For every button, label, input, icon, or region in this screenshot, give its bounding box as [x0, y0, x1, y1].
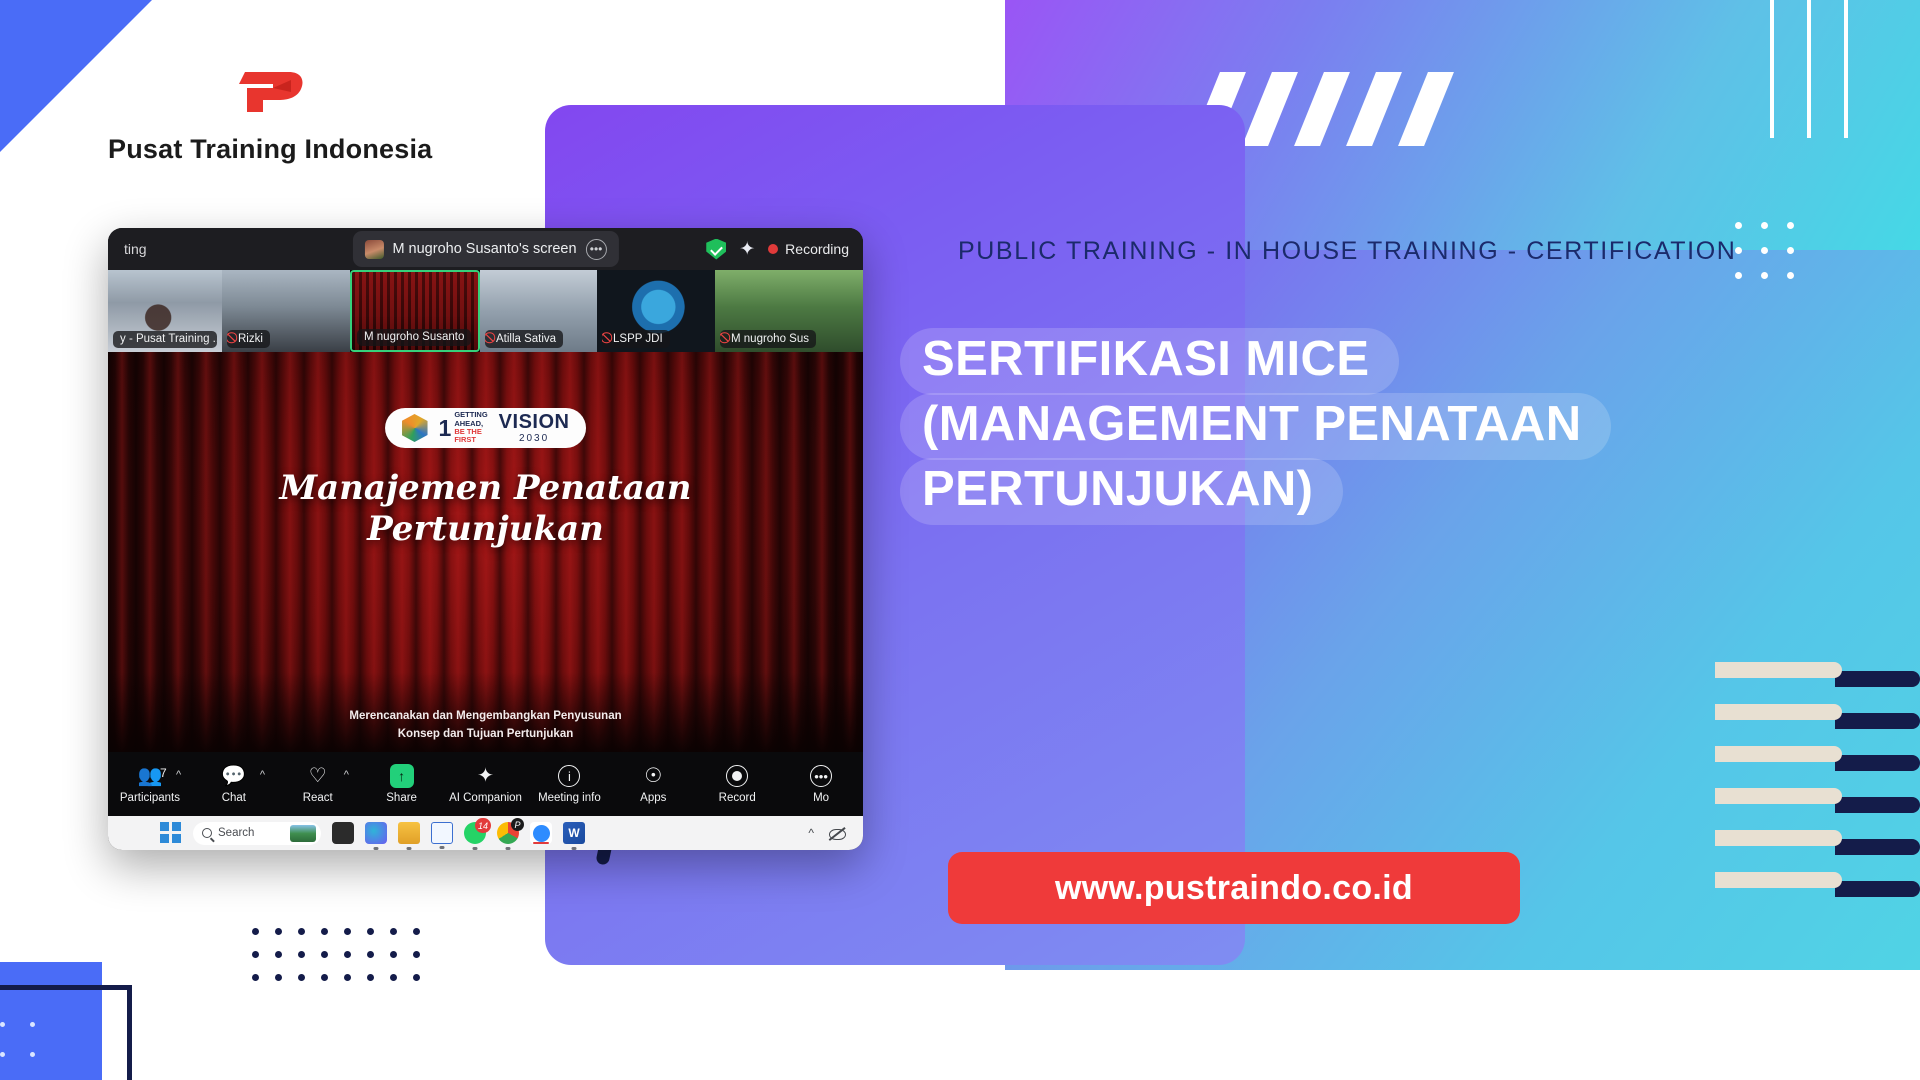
taskbar-tray: ^: [808, 826, 863, 840]
bar-stack-decoration: [1715, 662, 1920, 912]
participant-name: M nugroho Susanto: [357, 329, 471, 346]
toolbar-share-button[interactable]: ↑ Share: [360, 764, 444, 804]
more-icon-wrap: •••: [810, 764, 832, 788]
info-circle-icon-wrap: i: [558, 764, 580, 788]
record-icon: [726, 765, 748, 787]
slide-subtitle: Merencanakan dan Mengembangkan Penyusuna…: [108, 708, 863, 744]
participant-name: y - Pusat Training ...: [113, 331, 217, 348]
toolbar-apps-button[interactable]: ☉ Apps: [611, 764, 695, 804]
participant-name-text: M nugroho Sus: [731, 333, 809, 345]
ellipsis-icon[interactable]: •••: [586, 239, 607, 260]
taskbar-items: Search 14 P: [108, 822, 585, 845]
chevron-up-icon[interactable]: ^: [808, 826, 814, 840]
share-screen-icon: ↑: [390, 764, 414, 788]
pti-p-logo-icon: [229, 62, 307, 120]
participant-avatar-icon: [364, 240, 383, 259]
toolbar-label: Mo: [813, 792, 829, 804]
whatsapp-icon[interactable]: 14: [464, 822, 486, 844]
share-screen-icon-wrap: ↑: [390, 764, 414, 788]
participant-name: ⃠ Atilla Sativa: [485, 330, 563, 348]
whatsapp-badge: 14: [475, 818, 491, 833]
zoom-topbar-status: ✦ Recording: [706, 228, 849, 270]
heart-icon: ♡: [309, 764, 327, 788]
toolbar-meeting-info-button[interactable]: i Meeting info: [527, 764, 611, 804]
participant-tile[interactable]: ⃠ Rizki: [222, 270, 350, 352]
slide-subtitle-line1: Merencanakan dan Mengembangkan Penyusuna…: [108, 708, 863, 726]
search-input[interactable]: Search: [193, 822, 321, 845]
toolbar-chat-button[interactable]: 💬 ^ Chat: [192, 764, 276, 804]
info-circle-icon: i: [558, 765, 580, 787]
taskview-icon[interactable]: [332, 822, 354, 844]
getting-ahead-lines: GETTING AHEAD, BE THE FIRST: [454, 411, 487, 445]
vertical-lines-decoration: [1770, 0, 1860, 138]
word-icon[interactable]: W: [563, 822, 585, 844]
brand-block: Pusat Training Indonesia: [108, 62, 428, 165]
participant-name: ⃠ LSPP JDI: [602, 330, 670, 348]
headline-line-3: PERTUNJUKAN): [900, 458, 1343, 525]
participant-name: ⃠ M nugroho Sus: [720, 330, 816, 348]
vision-year: 2030: [499, 434, 570, 444]
zoom-topbar: ting M nugroho Susanto's screen ••• ✦ Re…: [108, 228, 863, 270]
toolbar-label: Meeting info: [538, 792, 601, 804]
zoom-toolbar: 👥 7 ^ Participants 💬 ^ Chat ♡ ^ React ↑ …: [108, 752, 863, 816]
website-cta-button[interactable]: www.pustraindo.co.id: [948, 852, 1520, 924]
eyebrow-text: PUBLIC TRAINING - IN HOUSE TRAINING - CE…: [958, 237, 1736, 266]
slide-title-line2: Pertunjukan: [108, 509, 863, 550]
badge-number-one: 1: [439, 417, 452, 440]
participant-name-text: Atilla Sativa: [496, 333, 556, 345]
toolbar-ai-companion-button[interactable]: ✦ AI Companion: [444, 764, 528, 804]
dot-grid-decoration-bottom-left: [252, 928, 436, 997]
brand-name: Pusat Training Indonesia: [108, 134, 428, 165]
eye-off-icon[interactable]: [828, 827, 845, 840]
participant-tile[interactable]: ⃠ M nugroho Sus: [715, 270, 863, 352]
chevron-up-icon[interactable]: ^: [260, 769, 265, 781]
participant-tile[interactable]: ⃠ LSPP JDI: [597, 270, 715, 352]
zoom-meeting-label: ting: [108, 228, 147, 270]
search-placeholder: Search: [218, 827, 254, 839]
chat-icon: 💬: [221, 764, 246, 788]
shield-check-icon[interactable]: [706, 239, 726, 260]
toolbar-participants-button[interactable]: 👥 7 ^ Participants: [108, 764, 192, 804]
headline-line-2: (MANAGEMENT PENATAAN: [900, 393, 1611, 460]
file-explorer-icon[interactable]: [398, 822, 420, 844]
vision-text: VISION: [499, 411, 570, 433]
poster-canvas: Pusat Training Indonesia PUBLIC TRAINING…: [0, 0, 1920, 1080]
chevron-up-icon[interactable]: ^: [344, 769, 349, 781]
toolbar-record-button[interactable]: Record: [695, 764, 779, 804]
shared-screen-label: M nugroho Susanto's screen: [392, 241, 576, 257]
headline-block: SERTIFIKASI MICE (MANAGEMENT PENATAAN PE…: [900, 328, 1740, 523]
dot-grid-decoration-top-right: [1735, 222, 1813, 297]
participant-name-text: y - Pusat Training ...: [120, 333, 217, 345]
participants-icon: 👥: [137, 764, 162, 788]
participant-name-text: M nugroho Susanto: [364, 331, 464, 343]
participants-count: 7: [160, 766, 167, 780]
chrome-icon[interactable]: P: [497, 822, 519, 844]
toolbar-label: React: [303, 792, 333, 804]
search-thumbnail-icon: [290, 825, 316, 842]
vision-2030-lockup: VISION 2030: [499, 412, 570, 444]
vision-hex-icon: [402, 414, 428, 442]
chrome-badge: P: [511, 818, 524, 831]
participant-filmstrip: y - Pusat Training ... ⃠ Rizki M nugroho…: [108, 270, 863, 352]
windows-taskbar: Search 14 P: [108, 816, 863, 850]
toolbar-label: Apps: [640, 792, 666, 804]
participant-name: ⃠ Rizki: [227, 330, 270, 348]
diagonal-stripes-decoration: [1205, 72, 1545, 147]
toolbar-label: Share: [386, 792, 417, 804]
recording-dot-icon: [768, 244, 778, 254]
participant-name-text: LSPP JDI: [613, 333, 663, 345]
recording-indicator[interactable]: Recording: [768, 241, 849, 257]
headline-line-1: SERTIFIKASI MICE: [900, 328, 1399, 395]
slide-title: Manajemen Penataan Pertunjukan: [108, 468, 863, 551]
more-icon: •••: [810, 765, 832, 787]
copilot-icon[interactable]: [365, 822, 387, 844]
zoom-meeting-window: ting M nugroho Susanto's screen ••• ✦ Re…: [108, 228, 863, 850]
toolbar-label: AI Companion: [449, 792, 522, 804]
shared-slide: 1 GETTING AHEAD, BE THE FIRST VISION 203…: [108, 352, 863, 792]
toolbar-label: Chat: [222, 792, 246, 804]
notepad-icon[interactable]: [431, 822, 453, 844]
recording-label: Recording: [785, 241, 849, 257]
shared-screen-pill[interactable]: M nugroho Susanto's screen •••: [352, 231, 618, 267]
zoom-icon[interactable]: [530, 822, 552, 844]
participant-tile-active[interactable]: M nugroho Susanto: [350, 270, 480, 352]
record-icon-wrap: [726, 764, 748, 788]
toolbar-label: Record: [719, 792, 756, 804]
participant-tile[interactable]: ⃠ Atilla Sativa: [480, 270, 597, 352]
slide-subtitle-line2: Konsep dan Tujuan Pertunjukan: [108, 726, 863, 744]
search-icon: [202, 828, 212, 838]
slide-vision-badge: 1 GETTING AHEAD, BE THE FIRST VISION 203…: [385, 408, 587, 448]
toolbar-label: Participants: [120, 792, 180, 804]
chevron-up-icon[interactable]: ^: [176, 769, 181, 781]
badge-getting-line4: FIRST: [454, 436, 487, 444]
toolbar-react-button[interactable]: ♡ ^ React: [276, 764, 360, 804]
windows-start-icon[interactable]: [160, 822, 182, 844]
participant-tile[interactable]: y - Pusat Training ...: [108, 270, 222, 352]
getting-ahead-lockup: 1 GETTING AHEAD, BE THE FIRST: [439, 411, 488, 445]
ai-sparkle-icon: ✦: [477, 764, 494, 788]
ai-sparkle-icon[interactable]: ✦: [739, 240, 755, 259]
toolbar-more-button[interactable]: ••• Mo: [779, 764, 863, 804]
slide-title-line1: Manajemen Penataan: [108, 468, 863, 509]
blue-square-dots-decoration: [0, 1022, 60, 1080]
participant-name-text: Rizki: [238, 333, 263, 345]
apps-icon: ☉: [644, 764, 662, 788]
